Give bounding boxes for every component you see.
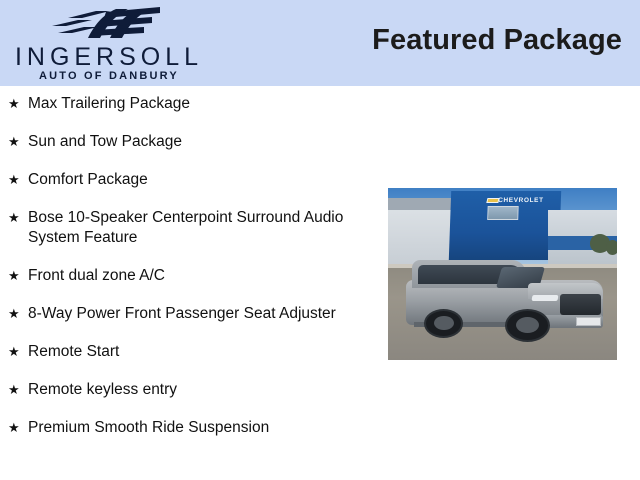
list-item: ★ Remote keyless entry [0,380,372,400]
list-item-label: Bose 10-Speaker Centerpoint Surround Aud… [28,209,343,246]
list-item-label: Front dual zone A/C [28,267,165,284]
star-bullet-icon: ★ [8,170,20,190]
brand-subwordmark: AUTO OF DANBURY [0,70,218,83]
suv-grille [560,294,601,315]
wheel-hub [434,316,454,330]
brand-logo: INGERSOLL AUTO OF DANBURY [0,4,218,84]
star-bullet-icon: ★ [8,94,20,114]
list-item-label: Max Trailering Package [28,95,190,112]
list-item: ★ Front dual zone A/C [0,266,372,286]
brand-wordmark: INGERSOLL [0,44,218,71]
suv-front-wheel [505,309,550,342]
star-bullet-icon: ★ [8,208,20,228]
list-item: ★ Bose 10-Speaker Centerpoint Surround A… [0,208,372,247]
list-item-label: 8-Way Power Front Passenger Seat Adjuste… [28,305,336,322]
vehicle-photo: CHEVROLET [388,188,617,360]
page-title: Featured Package [372,24,622,57]
vehicle-photo-scene: CHEVROLET [388,188,617,360]
list-item: ★ Max Trailering Package [0,94,372,114]
list-item-label: Remote keyless entry [28,381,177,398]
list-item-label: Comfort Package [28,171,148,188]
suv-vehicle [406,259,603,340]
list-item: ★ Sun and Tow Package [0,132,372,152]
star-bullet-icon: ★ [8,342,20,362]
license-plate [576,317,602,326]
star-bullet-icon: ★ [8,380,20,400]
list-item: ★ Premium Smooth Ride Suspension [0,418,372,438]
list-item: ★ 8-Way Power Front Passenger Seat Adjus… [0,304,372,324]
dealership-sign-panel: CHEVROLET [449,191,561,260]
wheel-hub [516,317,539,333]
star-bullet-icon: ★ [8,418,20,438]
dealership-sign-text: CHEVROLET [498,198,544,205]
star-bullet-icon: ★ [8,266,20,286]
page-header: INGERSOLL AUTO OF DANBURY Featured Packa… [0,0,640,86]
ingersoll-winged-emblem-icon [48,6,166,42]
feature-list: ★ Max Trailering Package ★ Sun and Tow P… [0,86,372,456]
list-item: ★ Comfort Package [0,170,372,190]
star-bullet-icon: ★ [8,132,20,152]
list-item-label: Premium Smooth Ride Suspension [28,419,269,436]
suv-rear-wheel [424,309,463,338]
list-item-label: Sun and Tow Package [28,133,182,150]
showroom-window [487,207,518,221]
list-item: ★ Remote Start [0,342,372,362]
star-bullet-icon: ★ [8,304,20,324]
tree [606,240,617,255]
list-item-label: Remote Start [28,343,119,360]
suv-headlight [532,295,559,301]
